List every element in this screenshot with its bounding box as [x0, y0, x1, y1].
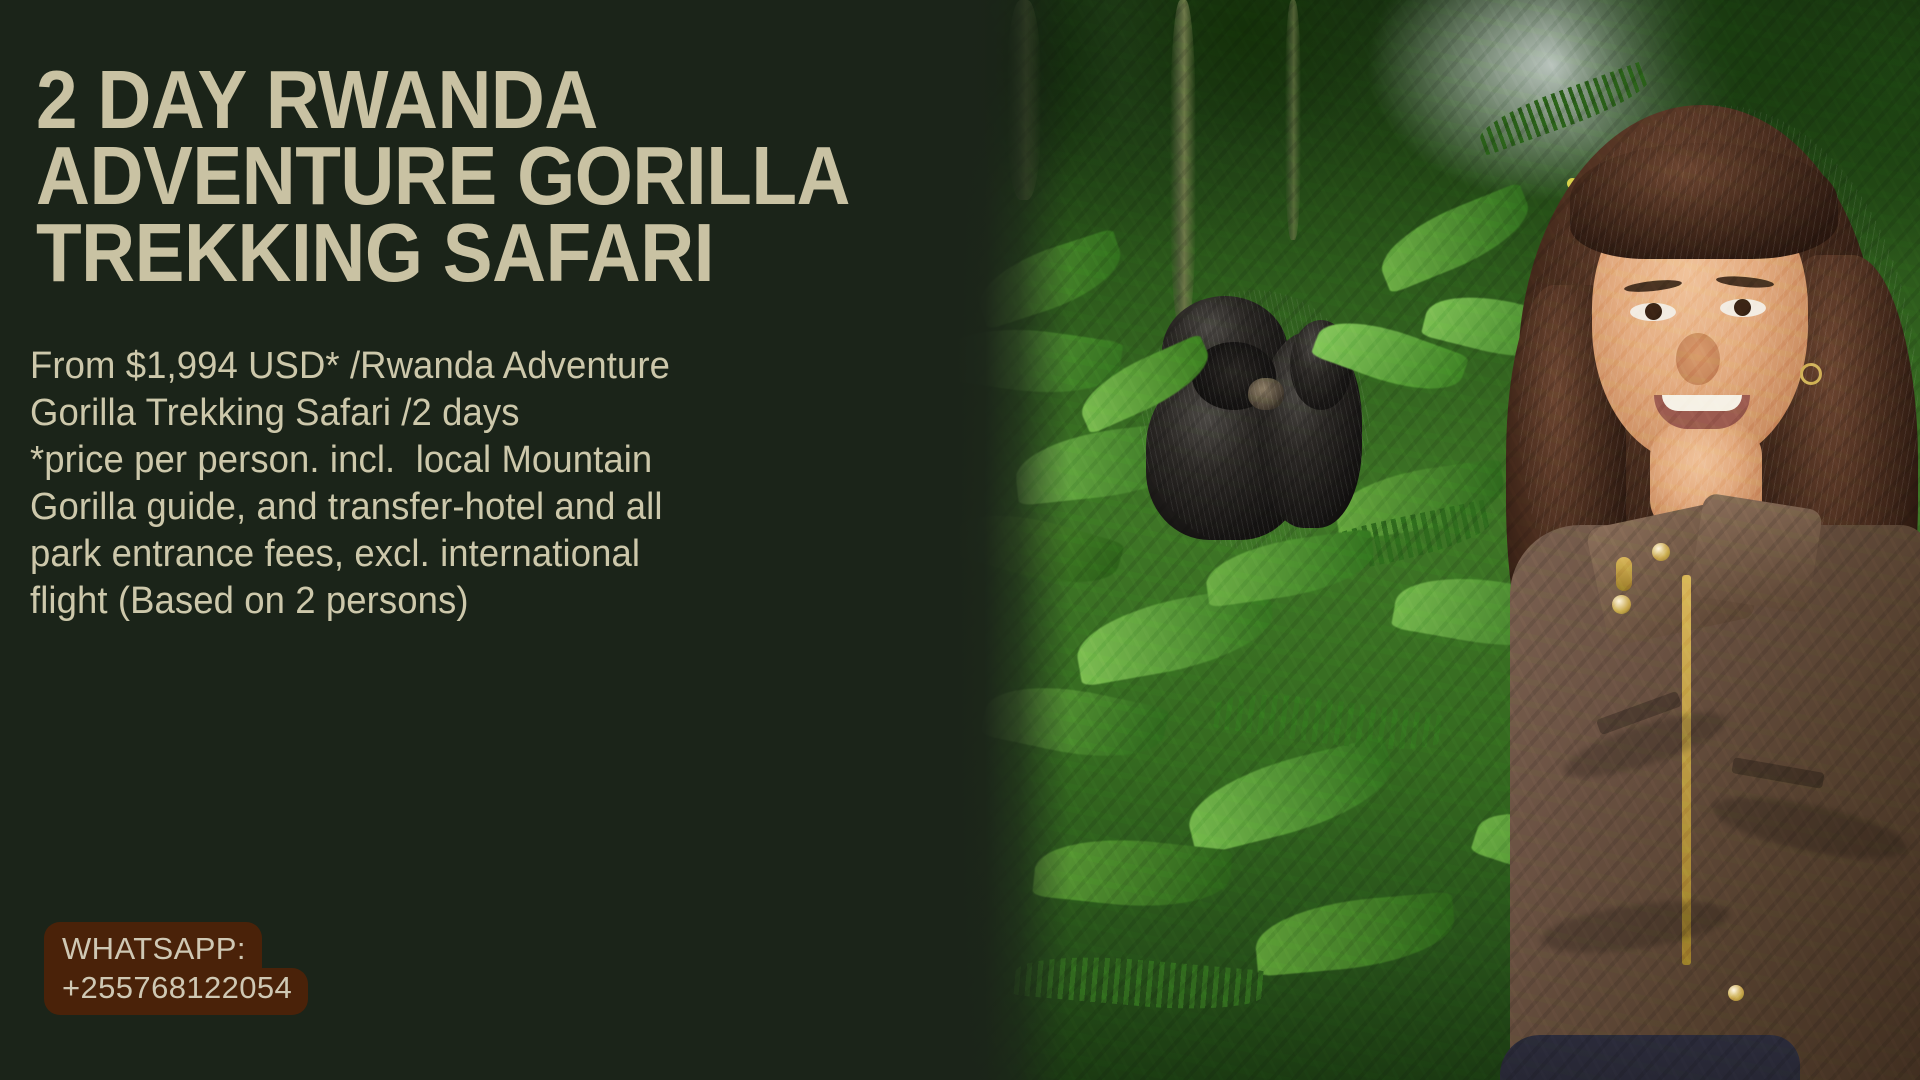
whatsapp-number[interactable]: +255768122054: [44, 968, 308, 1015]
safari-photo: [955, 0, 1920, 1080]
tour-description: From $1,994 USD* /Rwanda Adventure Goril…: [30, 343, 721, 625]
page-title: 2 DAY RWANDA ADVENTURE GORILLA TREKKING …: [36, 62, 945, 291]
text-panel: 2 DAY RWANDA ADVENTURE GORILLA TREKKING …: [0, 0, 980, 1080]
promo-banner: 2 DAY RWANDA ADVENTURE GORILLA TREKKING …: [0, 0, 1920, 1080]
whatsapp-label: WHATSAPP:: [44, 922, 262, 970]
foliage-texture: [955, 0, 1920, 1080]
whatsapp-contact-badge[interactable]: WHATSAPP: +255768122054: [44, 922, 514, 1015]
